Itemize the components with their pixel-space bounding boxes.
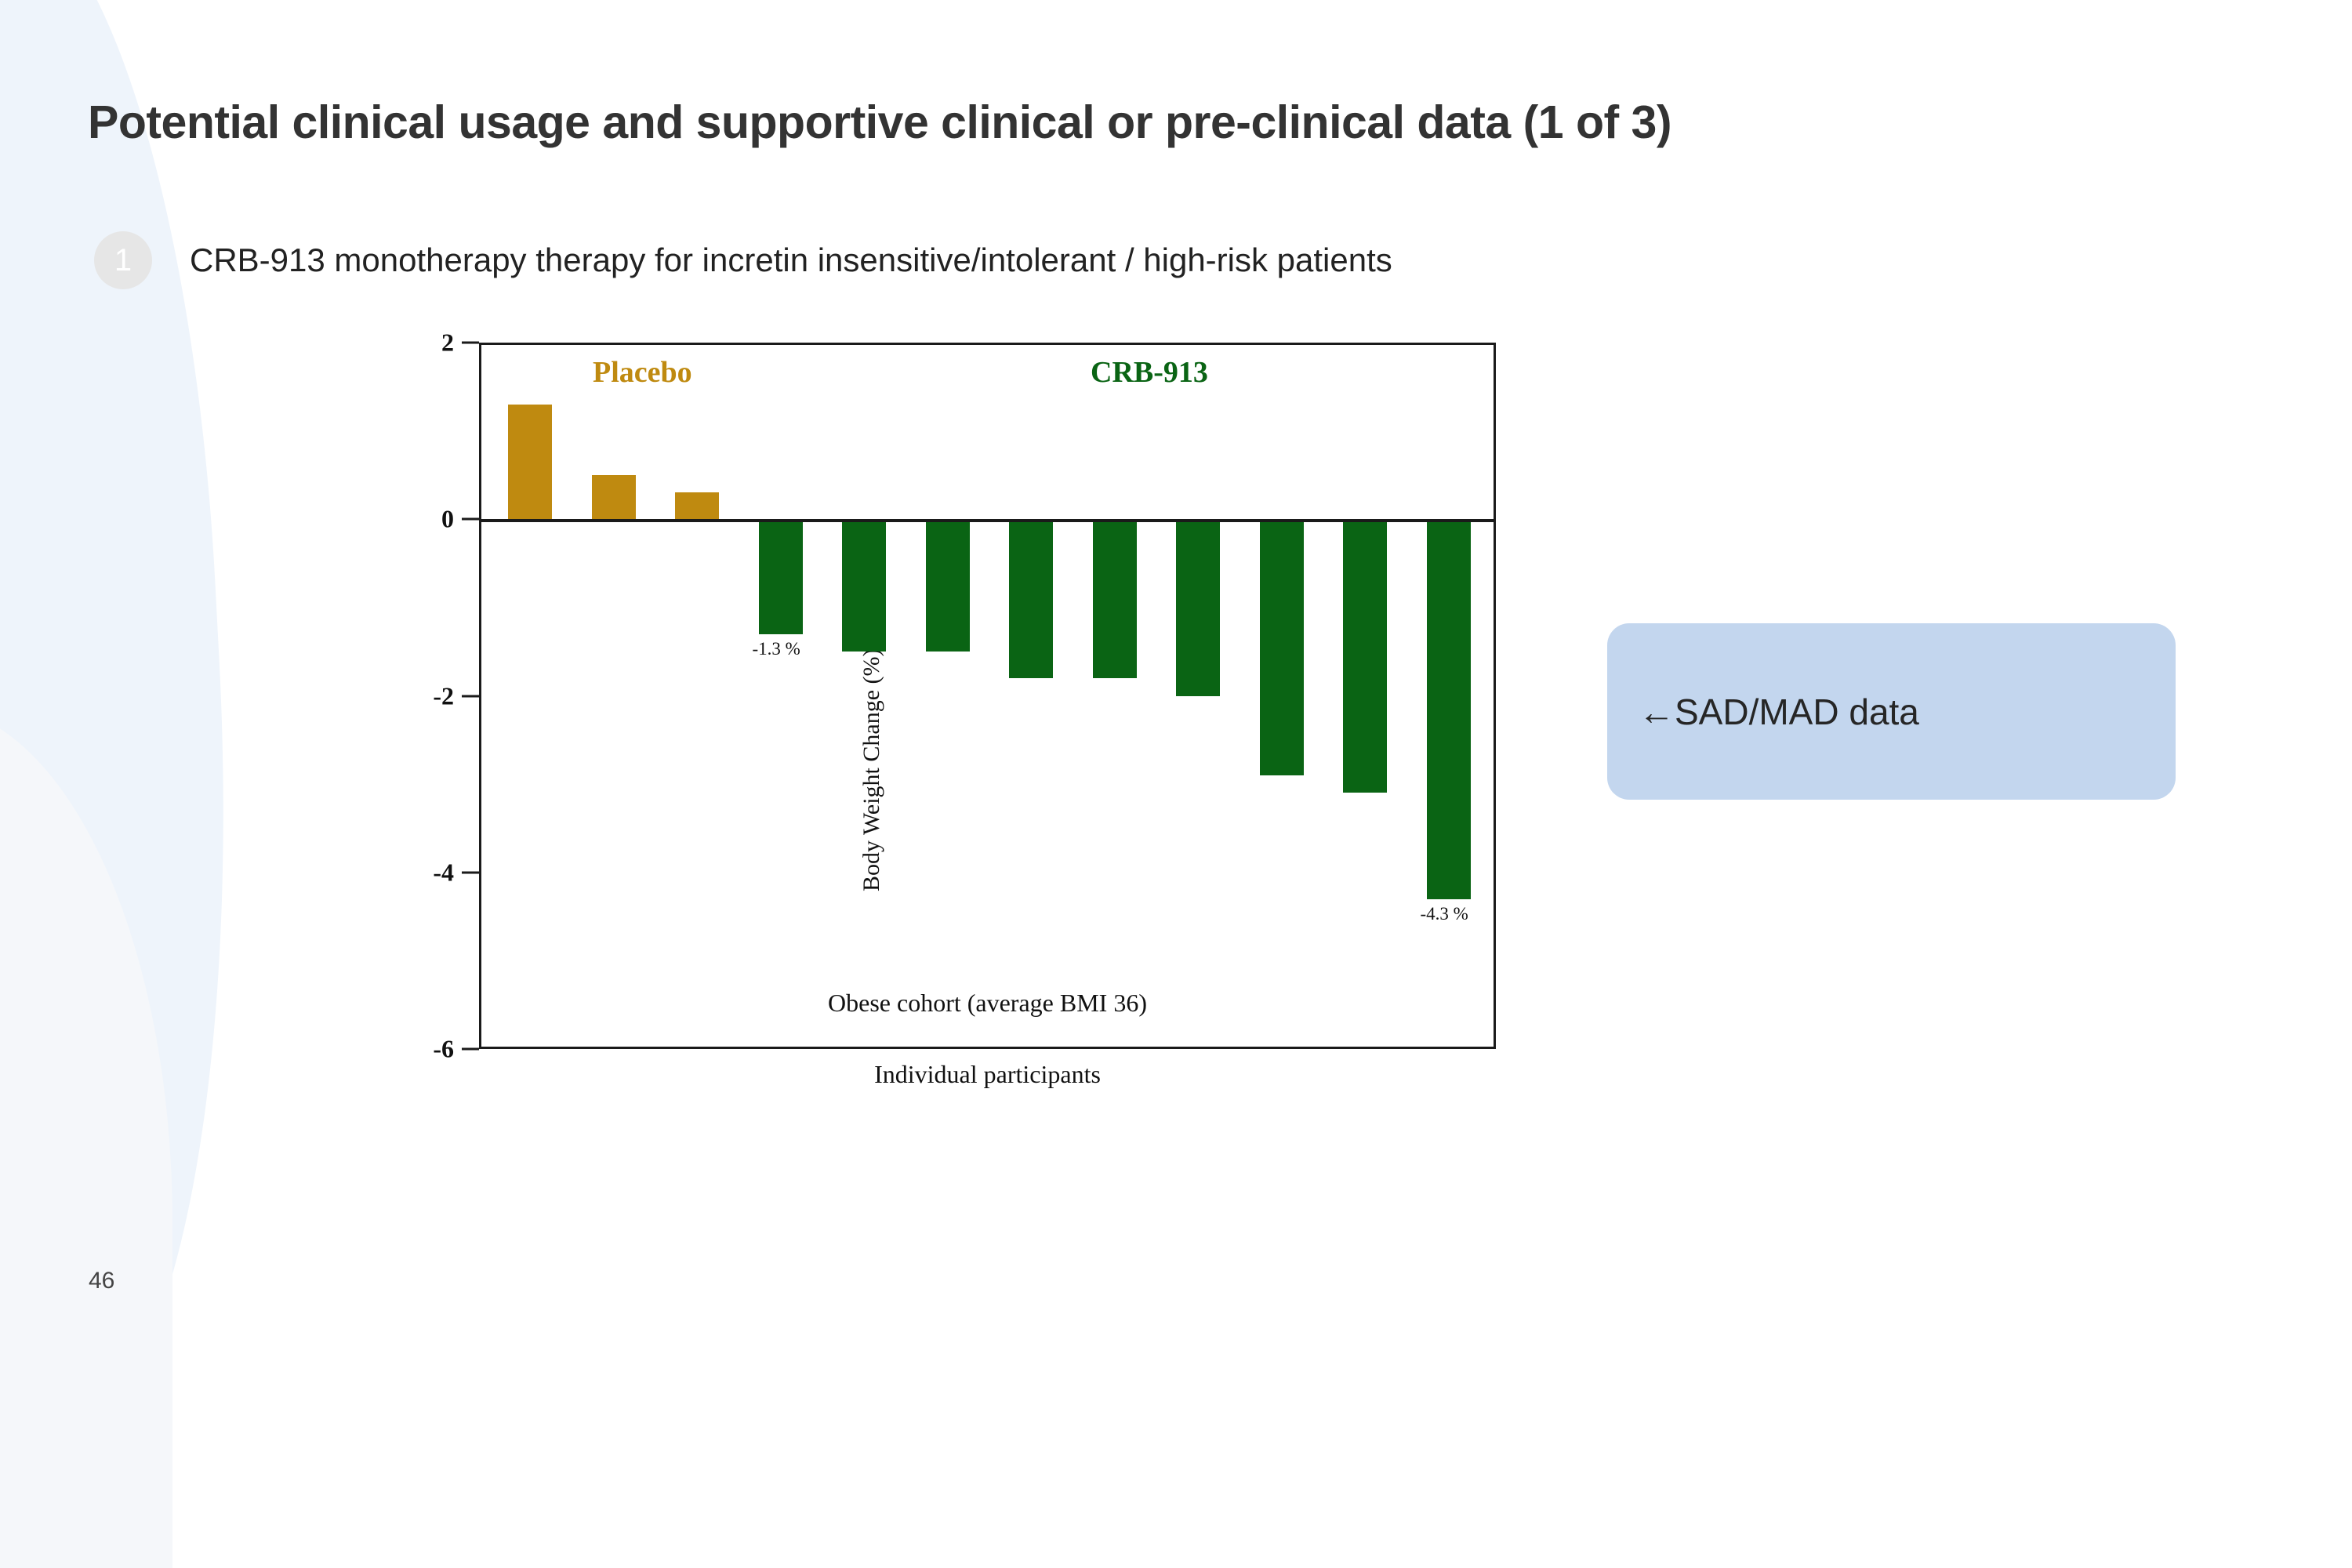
bar [592,475,636,519]
bar [1093,519,1137,678]
y-tick-mark [462,695,479,697]
bar [1009,519,1053,678]
y-tick-label: -6 [410,1035,454,1064]
page-title: Potential clinical usage and supportive … [88,96,1671,149]
y-tick: -4 [410,858,479,887]
legend-crb913: CRB-913 [1091,355,1208,390]
bar-value-label: -1.3 % [753,639,800,659]
y-tick-mark [462,342,479,344]
bullet-number-badge: 1 [94,231,152,289]
bar [926,519,970,652]
bar-value-label: -4.3 % [1421,904,1468,924]
zero-baseline [479,519,1496,522]
y-tick-mark [462,518,479,521]
bullet-row: 1 CRB-913 monotherapy therapy for incret… [94,231,1392,289]
y-tick-label: -2 [410,681,454,710]
bar [1260,519,1304,775]
bar [842,519,886,652]
bar-chart: Body Weight Change (%) 20-2-4-6 Placebo … [479,343,1496,1049]
bar [1176,519,1220,695]
y-tick-mark [462,1048,479,1051]
bar [759,519,803,633]
bar [1427,519,1471,898]
y-tick-mark [462,871,479,873]
callout-text: ←SAD/MAD data [1639,691,1919,733]
y-tick-label: 0 [410,505,454,534]
y-tick: 2 [410,328,479,358]
y-tick: 0 [410,505,479,534]
bar [1343,519,1387,793]
bars-layer: -1.3 %-4.3 % [479,343,1496,1049]
y-tick: -6 [410,1035,479,1064]
slide-canvas: Potential clinical usage and supportive … [0,0,2352,1323]
legend-placebo: Placebo [593,355,692,390]
bar [675,492,719,519]
y-tick-label: -4 [410,858,454,887]
callout-box: ←SAD/MAD data [1607,623,2176,800]
y-tick-label: 2 [410,328,454,358]
y-tick: -2 [410,681,479,710]
bar [508,405,552,519]
page-number: 46 [89,1268,114,1294]
bullet-text: CRB-913 monotherapy therapy for incretin… [190,241,1392,279]
x-axis-title: Individual participants [479,1060,1496,1089]
